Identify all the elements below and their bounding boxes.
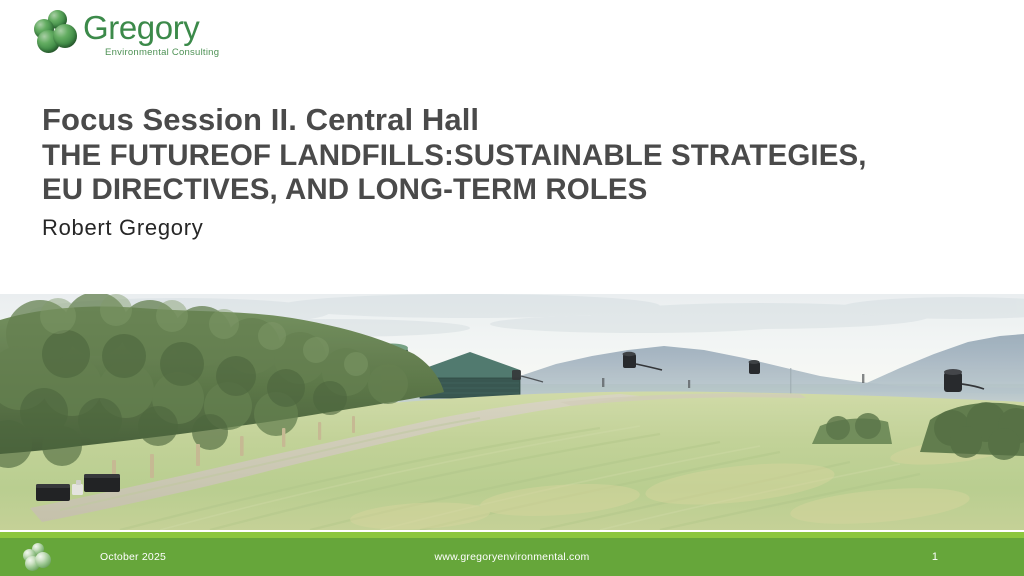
logo-sphere-right <box>53 24 77 48</box>
slide-page-number: 1 <box>0 538 1024 576</box>
footer-sphere-right <box>35 552 51 568</box>
title-line-3: EU DIRECTIVES, AND LONG-TERM ROLES <box>42 173 1007 207</box>
photo-illustration <box>0 294 1024 530</box>
brand-logo: Gregory Environmental Consulting <box>33 8 293 66</box>
title-line-1: Focus Session II. Central Hall <box>42 100 1007 139</box>
landfill-site-photo <box>0 294 1024 530</box>
title-line-2: THE FUTUREOF LANDFILLS:SUSTAINABLE STRAT… <box>42 139 1007 173</box>
slide: Gregory Environmental Consulting Focus S… <box>0 0 1024 576</box>
footer-bar: October 2025 www.gregoryenvironmental.co… <box>0 538 1024 576</box>
brand-tagline: Environmental Consulting <box>105 47 219 58</box>
page-title: Focus Session II. Central Hall THE FUTUR… <box>42 100 1007 242</box>
author-name: Robert Gregory <box>42 214 1007 242</box>
brand-name: Gregory <box>83 10 199 46</box>
molecule-spheres-icon <box>33 10 81 56</box>
